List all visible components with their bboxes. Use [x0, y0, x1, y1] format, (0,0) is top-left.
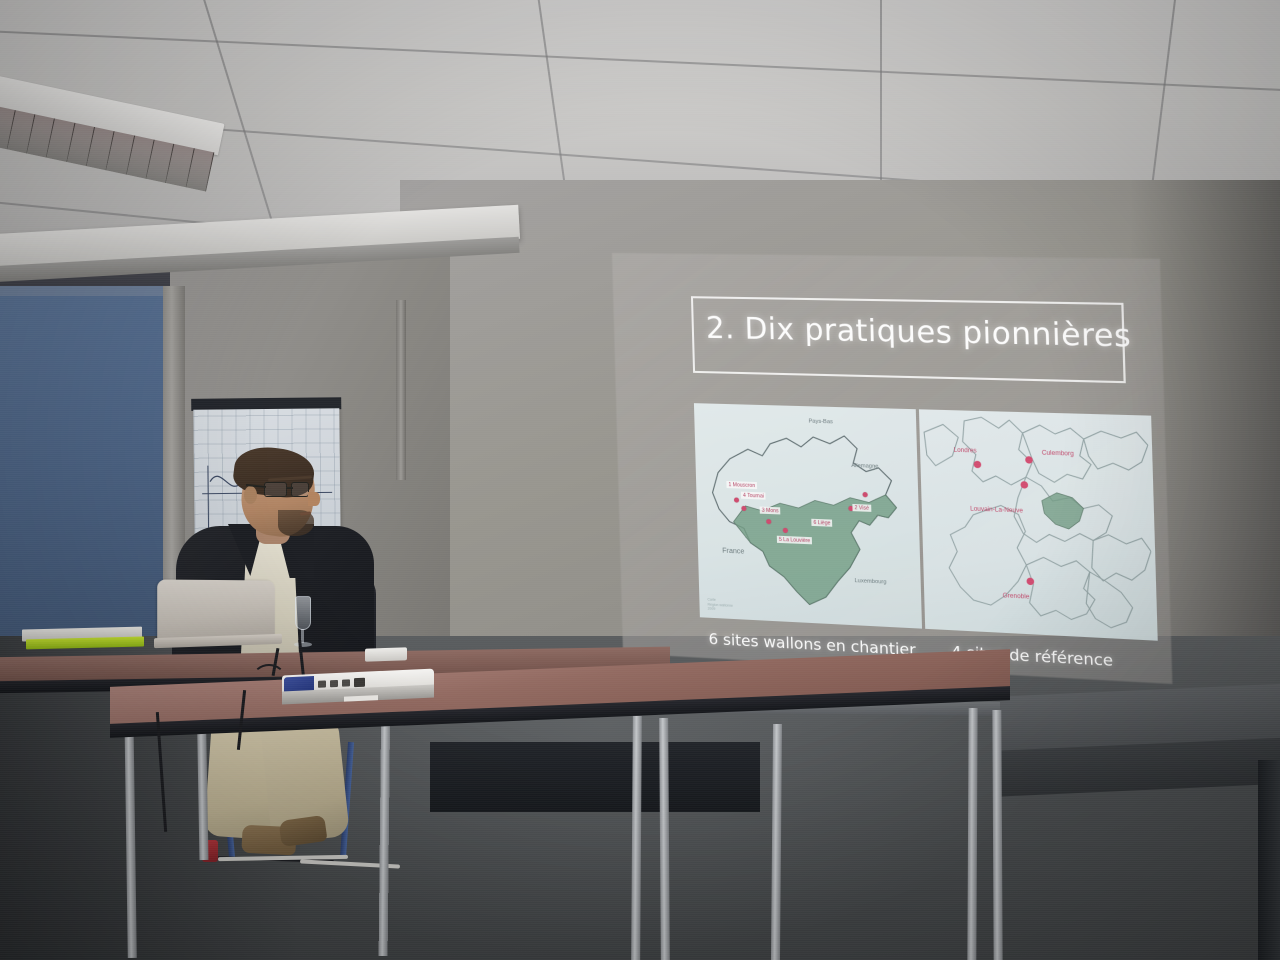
- apple-logo-icon: [210, 602, 226, 621]
- cable-loop: [252, 664, 286, 694]
- nose: [308, 492, 320, 506]
- table-leg: [631, 716, 642, 960]
- site-label-grenoble: Grenoble: [1003, 593, 1030, 601]
- notebook-stack[interactable]: [22, 627, 144, 652]
- table-leg: [967, 708, 977, 960]
- site-label-la-louviere: 5 La Louvière: [777, 536, 813, 545]
- country-label-allemagne: Allemagne: [851, 463, 878, 470]
- site-marker-la-louviere: [783, 528, 788, 533]
- site-label-vise: 2 Visé: [852, 504, 871, 512]
- site-label-culemborg: Culemborg: [1042, 450, 1074, 457]
- country-label-france: France: [722, 548, 744, 556]
- site-marker-tournai: [741, 506, 746, 511]
- small-white-device[interactable]: [365, 647, 407, 661]
- site-label-mouscron: 1 Mouscron: [726, 481, 757, 489]
- projected-slide: 2. Dix pratiques pionnières Pays-Bas All…: [612, 253, 1172, 684]
- site-marker-grenoble: [1026, 577, 1034, 585]
- map-belgium: Pays-Bas Allemagne France Luxembourg 1 M…: [694, 403, 922, 628]
- map-europe: Londres Culemborg Louvain-La-Neuve Greno…: [918, 409, 1157, 640]
- site-marker-mouscron: [734, 497, 739, 502]
- map-credit: Carte Région wallonne 2009: [707, 598, 733, 613]
- macbook-lid: [157, 579, 275, 640]
- site-label-mons: 3 Mons: [760, 507, 781, 515]
- site-marker-louvain-la-neuve: [1020, 481, 1028, 489]
- site-marker-mons: [766, 519, 771, 524]
- site-marker-londres: [973, 461, 981, 469]
- ear: [244, 486, 257, 504]
- site-label-liege: 6 Liège: [811, 519, 832, 527]
- slide-maps: Pays-Bas Allemagne France Luxembourg 1 M…: [694, 403, 1158, 641]
- wall-pipe: [396, 300, 406, 480]
- water-glass[interactable]: [294, 596, 312, 648]
- projector-label: [344, 695, 378, 702]
- table-leg: [992, 710, 1002, 960]
- belgium-map-svg: [702, 413, 910, 617]
- site-marker-culemborg: [1025, 456, 1033, 464]
- table-leg: [659, 718, 670, 960]
- under-table-dark-area: [430, 742, 760, 812]
- site-marker-vise: [862, 492, 867, 497]
- site-label-londres: Londres: [953, 448, 976, 455]
- floor-reflection: [300, 700, 1060, 960]
- right-edge-post: [1258, 760, 1280, 960]
- country-label-pays-bas: Pays-Bas: [808, 419, 833, 426]
- silver-macbook[interactable]: [158, 580, 278, 646]
- europe-map-svg: [918, 409, 1157, 640]
- room-photo: 2. Dix pratiques pionnières Pays-Bas All…: [0, 0, 1280, 960]
- site-label-tournai: 4 Tournai: [741, 492, 766, 500]
